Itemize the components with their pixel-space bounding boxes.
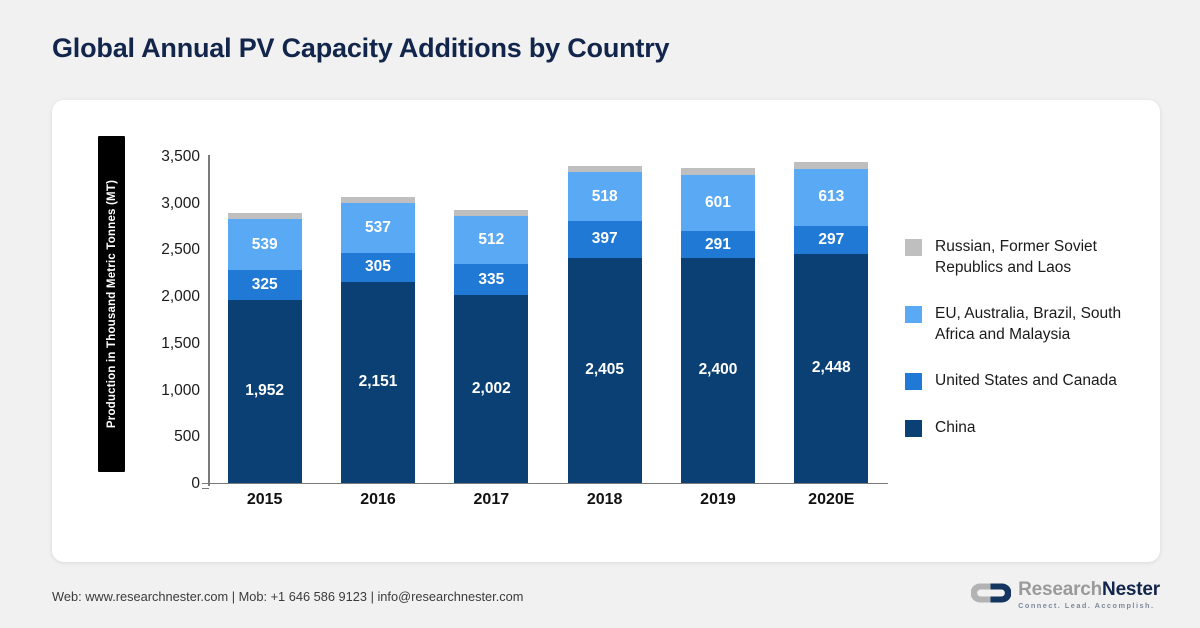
bar-group[interactable]: 5393251,952	[208, 156, 321, 483]
y-axis-tick: 2,500	[161, 241, 200, 259]
logo-word-research: Research	[1018, 579, 1102, 600]
x-axis-origin-tick	[202, 488, 209, 490]
bar-segment[interactable]: 397	[568, 221, 642, 258]
bar-stack[interactable]: 6132972,448	[794, 162, 868, 483]
logo-tagline: Connect. Lead. Accomplish.	[1018, 602, 1160, 609]
y-axis-tick: 500	[174, 428, 200, 446]
bar-stack[interactable]: 5373052,151	[341, 197, 415, 482]
logo-wordmark: ResearchNester	[1018, 580, 1160, 599]
legend-item[interactable]: EU, Australia, Brazil, South Africa and …	[905, 304, 1155, 345]
legend-item[interactable]: Russian, Former Soviet Republics and Lao…	[905, 237, 1155, 278]
x-axis-tick: 2019	[661, 491, 774, 509]
bar-group[interactable]: 6132972,448	[775, 156, 888, 483]
research-nester-logo: ResearchNester Connect. Lead. Accomplish…	[971, 578, 1160, 612]
legend-swatch	[905, 373, 922, 390]
bar-group[interactable]: 6012912,400	[661, 156, 774, 483]
bar-stack[interactable]: 5183972,405	[568, 166, 642, 483]
legend-label: China	[935, 418, 976, 439]
x-axis-tick: 2018	[548, 491, 661, 509]
bar-segment[interactable]: 512	[454, 216, 528, 264]
bar-segment[interactable]: 2,400	[681, 258, 755, 482]
y-axis-title: Production in Thousand Metric Tonnes (MT…	[98, 136, 125, 472]
bar-stack[interactable]: 5393251,952	[228, 213, 302, 482]
x-axis-line	[202, 483, 888, 485]
bar-group[interactable]: 5373052,151	[321, 156, 434, 483]
bar-segment[interactable]: 2,151	[341, 282, 415, 483]
chart-card: Production in Thousand Metric Tonnes (MT…	[52, 100, 1160, 562]
bar-segment[interactable]	[568, 166, 642, 173]
interlocking-links-icon	[971, 581, 1011, 610]
y-axis-tick: 0	[191, 475, 200, 493]
bar-segment[interactable]: 325	[228, 270, 302, 300]
legend-label: United States and Canada	[935, 371, 1117, 392]
chart-plot-area: 05001,0001,5002,0002,5003,0003,500 53932…	[208, 157, 888, 484]
logo-word-nester: Nester	[1102, 579, 1160, 600]
bar-segment[interactable]: 2,448	[794, 254, 868, 483]
bar-segment[interactable]: 1,952	[228, 300, 302, 482]
bar-segment[interactable]: 291	[681, 231, 755, 258]
legend-swatch	[905, 420, 922, 437]
y-axis-tick: 3,500	[161, 148, 200, 166]
legend-item[interactable]: United States and Canada	[905, 371, 1155, 392]
x-axis-tick: 2017	[435, 491, 548, 509]
bar-segment[interactable]: 613	[794, 169, 868, 226]
legend-swatch	[905, 239, 922, 256]
bar-segment[interactable]: 518	[568, 172, 642, 220]
legend-swatch	[905, 306, 922, 323]
y-axis-tick: 3,000	[161, 195, 200, 213]
bar-segment[interactable]	[794, 162, 868, 169]
logo-text: ResearchNester Connect. Lead. Accomplish…	[1018, 580, 1160, 609]
bar-stack[interactable]: 5123352,002	[454, 210, 528, 482]
bar-group[interactable]: 5123352,002	[435, 156, 548, 483]
y-axis-tick-labels: 05001,0001,5002,0002,5003,0003,500	[138, 157, 200, 484]
bar-stack[interactable]: 6012912,400	[681, 168, 755, 482]
bar-segment[interactable]: 335	[454, 264, 528, 295]
x-axis-tick: 2016	[321, 491, 434, 509]
bar-segment[interactable]: 2,002	[454, 295, 528, 482]
y-axis-tick: 1,500	[161, 335, 200, 353]
chart-legend: Russian, Former Soviet Republics and Lao…	[905, 237, 1155, 465]
bar-series-container: 5393251,9525373052,1515123352,0025183972…	[208, 156, 888, 483]
legend-item[interactable]: China	[905, 418, 1155, 439]
bar-segment[interactable]: 297	[794, 226, 868, 254]
legend-label: Russian, Former Soviet Republics and Lao…	[935, 237, 1155, 278]
y-axis-tick: 1,000	[161, 382, 200, 400]
bar-segment[interactable]: 2,405	[568, 258, 642, 483]
x-axis-tick: 2015	[208, 491, 321, 509]
x-axis-tick: 2020E	[775, 491, 888, 509]
bar-segment[interactable]: 537	[341, 203, 415, 253]
bar-segment[interactable]: 305	[341, 253, 415, 281]
bar-group[interactable]: 5183972,405	[548, 156, 661, 483]
footer-contact-info: Web: www.researchnester.com | Mob: +1 64…	[52, 589, 523, 604]
y-axis-tick: 2,000	[161, 288, 200, 306]
legend-label: EU, Australia, Brazil, South Africa and …	[935, 304, 1155, 345]
page-title: Global Annual PV Capacity Additions by C…	[52, 33, 669, 64]
y-axis-title-label: Production in Thousand Metric Tonnes (MT…	[106, 180, 118, 428]
bar-segment[interactable]: 601	[681, 175, 755, 231]
bar-segment[interactable]: 539	[228, 219, 302, 269]
x-axis-tick-labels: 201520162017201820192020E	[208, 491, 888, 509]
